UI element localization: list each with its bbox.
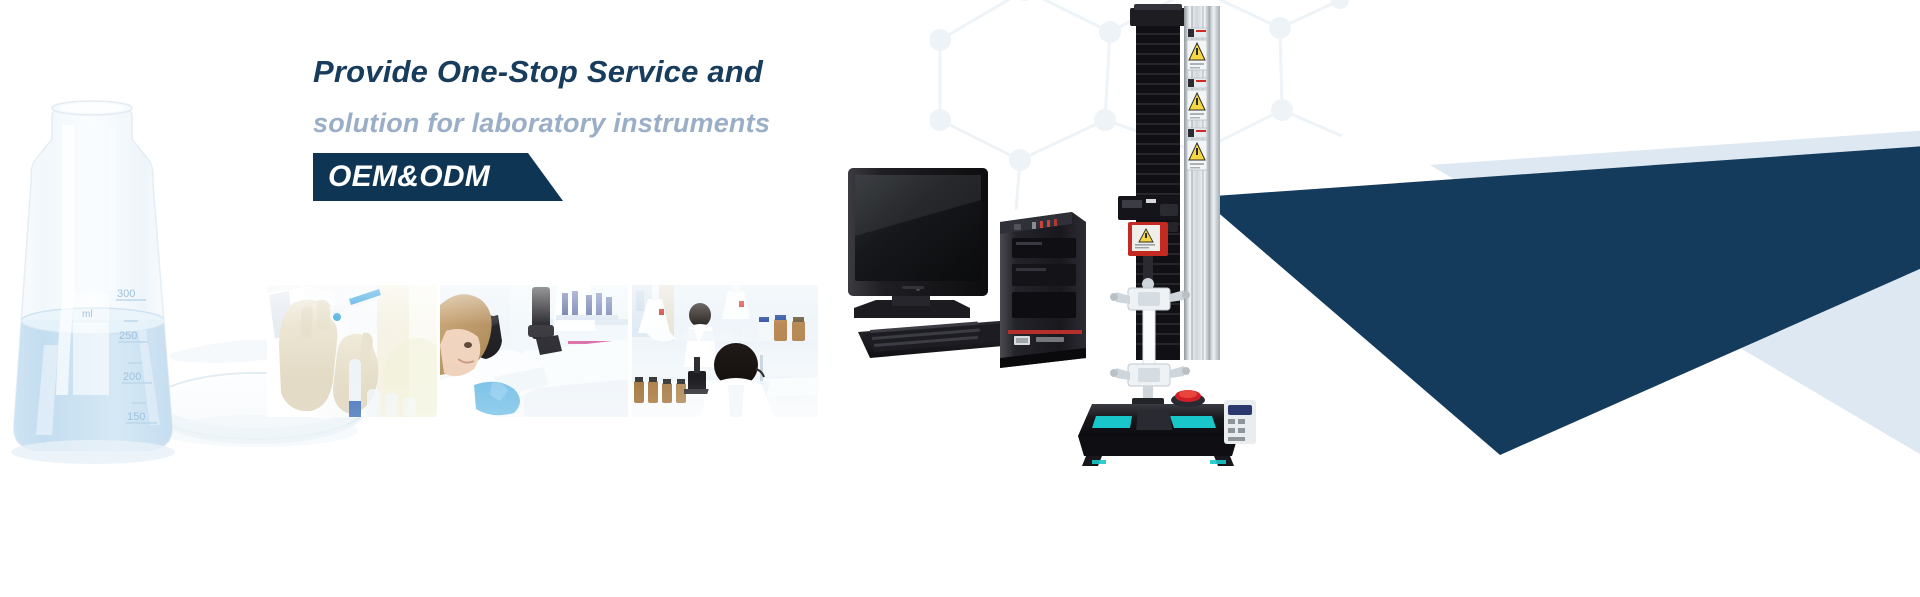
monitor-shape <box>848 168 988 318</box>
flask-mark-250: 250 <box>119 330 137 342</box>
flask-mark-150: 150 <box>127 411 145 423</box>
machine-base <box>1078 390 1256 466</box>
headline-line-2: solution for laboratory instruments <box>313 109 953 137</box>
lower-grip <box>1110 364 1190 386</box>
badge-label: OEM&ODM <box>328 160 490 194</box>
warning-label-2 <box>1187 78 1207 120</box>
flask-unit-label: ml <box>82 309 93 320</box>
petri-dish-shape <box>150 340 366 447</box>
erlenmeyer-flask-shape: 300 250 200 150 ml <box>0 101 200 495</box>
pc-tower-shape <box>1000 212 1086 368</box>
load-cell <box>1128 222 1178 256</box>
decorative-arrow-light <box>1430 130 1920 460</box>
crosshead <box>1118 196 1180 220</box>
oem-odm-badge: OEM&ODM <box>313 153 563 201</box>
lab-photo-2 <box>440 285 627 417</box>
testing-machine-shape <box>1078 4 1256 466</box>
banner-root: Provide One-Stop Service and solution fo… <box>0 0 1920 597</box>
upper-grip <box>1110 288 1190 310</box>
flask-mark-200: 200 <box>123 371 141 383</box>
molecule-watermark-icon <box>930 0 1350 220</box>
lab-photo-strip <box>267 285 818 417</box>
keyboard-shape <box>858 320 1026 358</box>
warning-label-3 <box>1187 128 1207 170</box>
strip-divider-1 <box>437 285 441 417</box>
photo-2-overlay <box>440 285 627 417</box>
photo-1-overlay <box>267 285 437 417</box>
warning-label-1 <box>1187 28 1207 70</box>
flask-mark-300: 300 <box>117 288 135 300</box>
lab-photo-1 <box>267 285 437 417</box>
strip-divider-2 <box>628 285 632 417</box>
photo-3-overlay <box>632 285 818 417</box>
lab-photo-3 <box>632 285 818 417</box>
decorative-arrow-dark <box>1200 145 1920 455</box>
headline-block: Provide One-Stop Service and solution fo… <box>313 56 953 137</box>
mouse-shape <box>1002 300 1032 322</box>
headline-line-1: Provide One-Stop Service and <box>313 56 953 89</box>
